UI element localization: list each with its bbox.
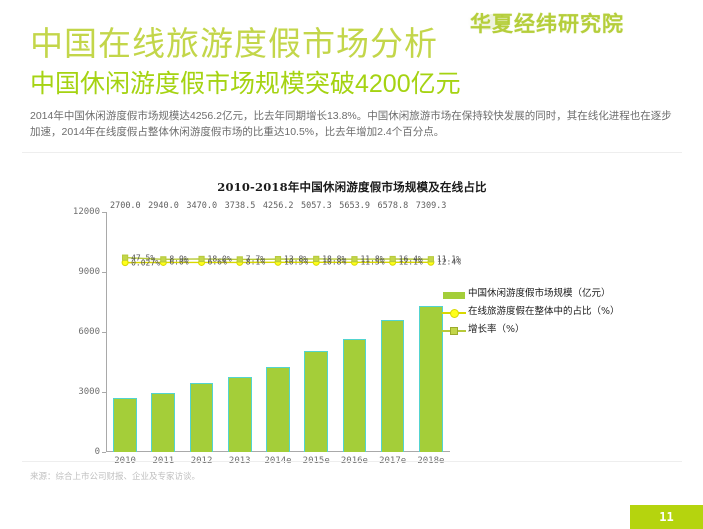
- bar-group: 2940.02011: [144, 212, 182, 452]
- bar: 5057.3: [304, 351, 328, 452]
- bar-group: 5653.92016e: [335, 212, 373, 452]
- source-note: 来源：综合上市公司财报、企业及专家访谈。: [30, 470, 200, 482]
- legend-item-market-size: 中国休闲游度假市场规模（亿元）: [442, 288, 672, 301]
- chart-panel: 2010-2018年中国休闲游度假市场规模及在线占比 0300060009000…: [22, 160, 682, 460]
- y-axis-tick: 3000: [78, 387, 100, 397]
- y-axis-tick-mark: [102, 452, 106, 453]
- bar-group: 4256.22014e: [259, 212, 297, 452]
- bar-value-label: 3470.0: [186, 201, 217, 211]
- brand-logo: 华夏经纬研究院: [470, 8, 624, 38]
- bar-value-label: 5653.9: [339, 201, 370, 211]
- bar-group: 2700.02010: [106, 212, 144, 452]
- legend-line-square-swatch-icon: [442, 325, 468, 337]
- bar: 2700.0: [113, 398, 137, 452]
- bar-value-label: 3738.5: [225, 201, 256, 211]
- bar: 7309.3: [419, 306, 443, 452]
- line-value-label: 11.1%: [437, 255, 461, 264]
- bar-group: 3470.02012: [182, 212, 220, 452]
- bar: 4256.2: [266, 367, 290, 452]
- y-axis-tick: 12000: [73, 207, 100, 217]
- chart-title: 2010-2018年中国休闲游度假市场规模及在线占比: [22, 179, 682, 195]
- bottom-divider: [22, 461, 682, 462]
- bar-group: 6578.82017e: [374, 212, 412, 452]
- intro-paragraph: 2014年中国休闲游度假市场规模达4256.2亿元，比去年同期增长13.8%。中…: [30, 108, 680, 140]
- bar: 6578.8: [381, 320, 405, 452]
- line-value-label: 18.0%: [208, 254, 232, 263]
- y-axis-tick: 9000: [78, 267, 100, 277]
- legend-label-growth-rate: 增长率（%）: [468, 324, 525, 336]
- line-value-label: 7.7%: [246, 255, 265, 264]
- page-subtitle: 中国休闲游度假市场规模突破4200亿元: [30, 68, 461, 100]
- top-divider: [22, 152, 682, 153]
- line-value-label: 47.5%: [131, 253, 155, 262]
- legend-item-online-share: 在线旅游度假在整体中的占比（%）: [442, 306, 672, 319]
- chart-legend: 中国休闲游度假市场规模（亿元） 在线旅游度假在整体中的占比（%） 增长率（%）: [442, 288, 672, 342]
- legend-line-dot-swatch-icon: [442, 307, 468, 319]
- bar-value-label: 6578.8: [377, 201, 408, 211]
- page-number-bar: 11: [630, 505, 703, 529]
- y-axis-tick: 6000: [78, 327, 100, 337]
- legend-label-online-share: 在线旅游度假在整体中的占比（%）: [468, 306, 620, 318]
- bar-value-label: 5057.3: [301, 201, 332, 211]
- bar-value-label: 2700.0: [110, 201, 141, 211]
- bar: 3738.5: [228, 377, 252, 452]
- line-value-label: 13.8%: [284, 255, 308, 264]
- legend-bar-swatch-icon: [442, 289, 468, 301]
- bar-series: 2700.020102940.020113470.020123738.52013…: [106, 212, 450, 452]
- line-value-label: 16.4%: [399, 255, 423, 264]
- page-number: 11: [630, 505, 703, 529]
- bar-group: 5057.32015e: [297, 212, 335, 452]
- bar: 5653.9: [343, 339, 367, 452]
- line-value-label: 18.8%: [322, 254, 346, 263]
- bar: 3470.0: [190, 383, 214, 452]
- legend-label-market-size: 中国休闲游度假市场规模（亿元）: [468, 288, 611, 300]
- slide-root: 华夏经纬研究院 中国在线旅游度假市场分析 中国休闲游度假市场规模突破4200亿元…: [0, 0, 703, 529]
- bar-value-label: 7309.3: [416, 201, 447, 211]
- bar-group: 3738.52013: [221, 212, 259, 452]
- bar: 2940.0: [151, 393, 175, 452]
- page-title: 中国在线旅游度假市场分析: [30, 24, 438, 64]
- bar-value-label: 4256.2: [263, 201, 294, 211]
- line-value-label: 11.8%: [360, 255, 384, 264]
- bar-value-label: 2940.0: [148, 201, 179, 211]
- y-axis-tick: 0: [95, 447, 100, 457]
- legend-item-growth-rate: 增长率（%）: [442, 324, 672, 337]
- line-value-label: 8.9%: [169, 255, 188, 264]
- chart-plot-area: 030006000900012000 2700.020102940.020113…: [106, 212, 450, 452]
